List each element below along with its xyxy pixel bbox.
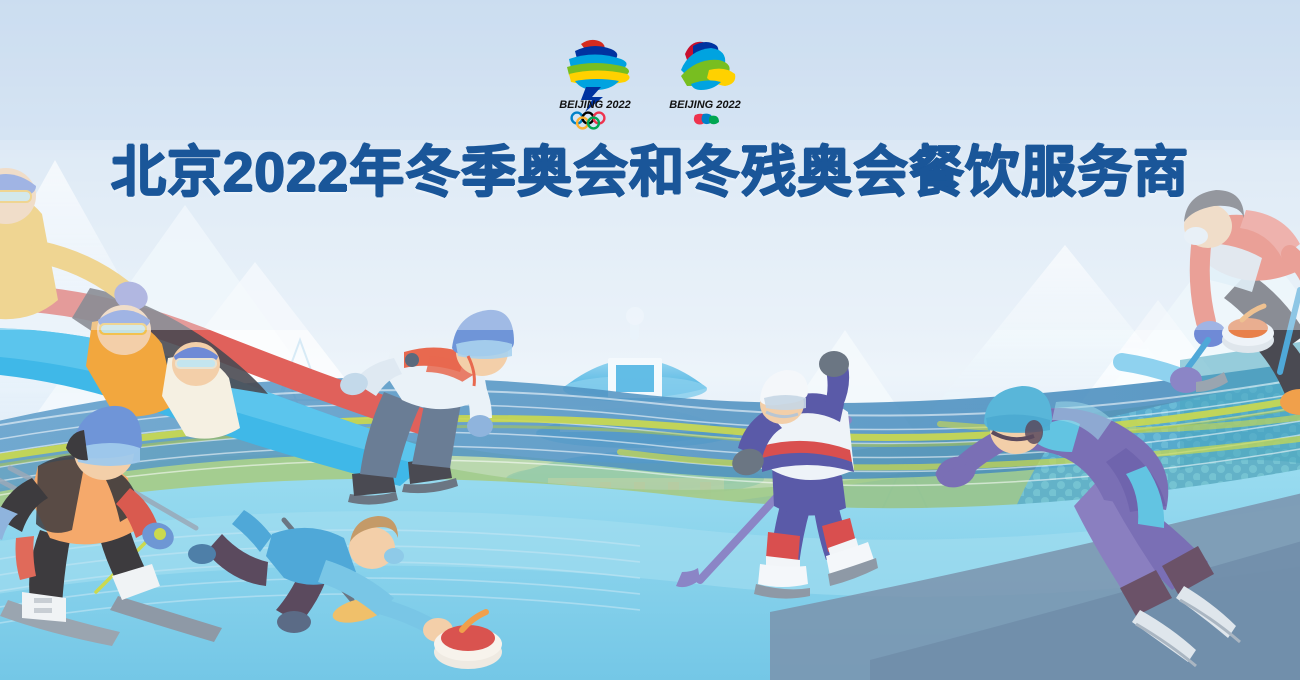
paralympic-wordmark: BEIJING 2022 bbox=[669, 99, 741, 111]
agitos-symbol bbox=[694, 114, 719, 125]
beijing-2022-catering-banner: BEIJING 2022 bbox=[0, 0, 1300, 680]
paralympic-emblem-graphic bbox=[681, 42, 735, 90]
page-title: 北京2022年冬季奥会和冬残奥会餐饮服务商 bbox=[111, 142, 1189, 203]
olympic-emblem: BEIJING 2022 bbox=[545, 32, 645, 132]
emblem-row: BEIJING 2022 bbox=[0, 32, 1300, 132]
title-container: 北京2022年冬季奥会和冬残奥会餐饮服务商 bbox=[0, 142, 1300, 203]
olympic-rings bbox=[572, 113, 605, 129]
olympic-wordmark: BEIJING 2022 bbox=[559, 99, 631, 111]
paralympic-emblem: BEIJING 2022 bbox=[655, 32, 755, 132]
